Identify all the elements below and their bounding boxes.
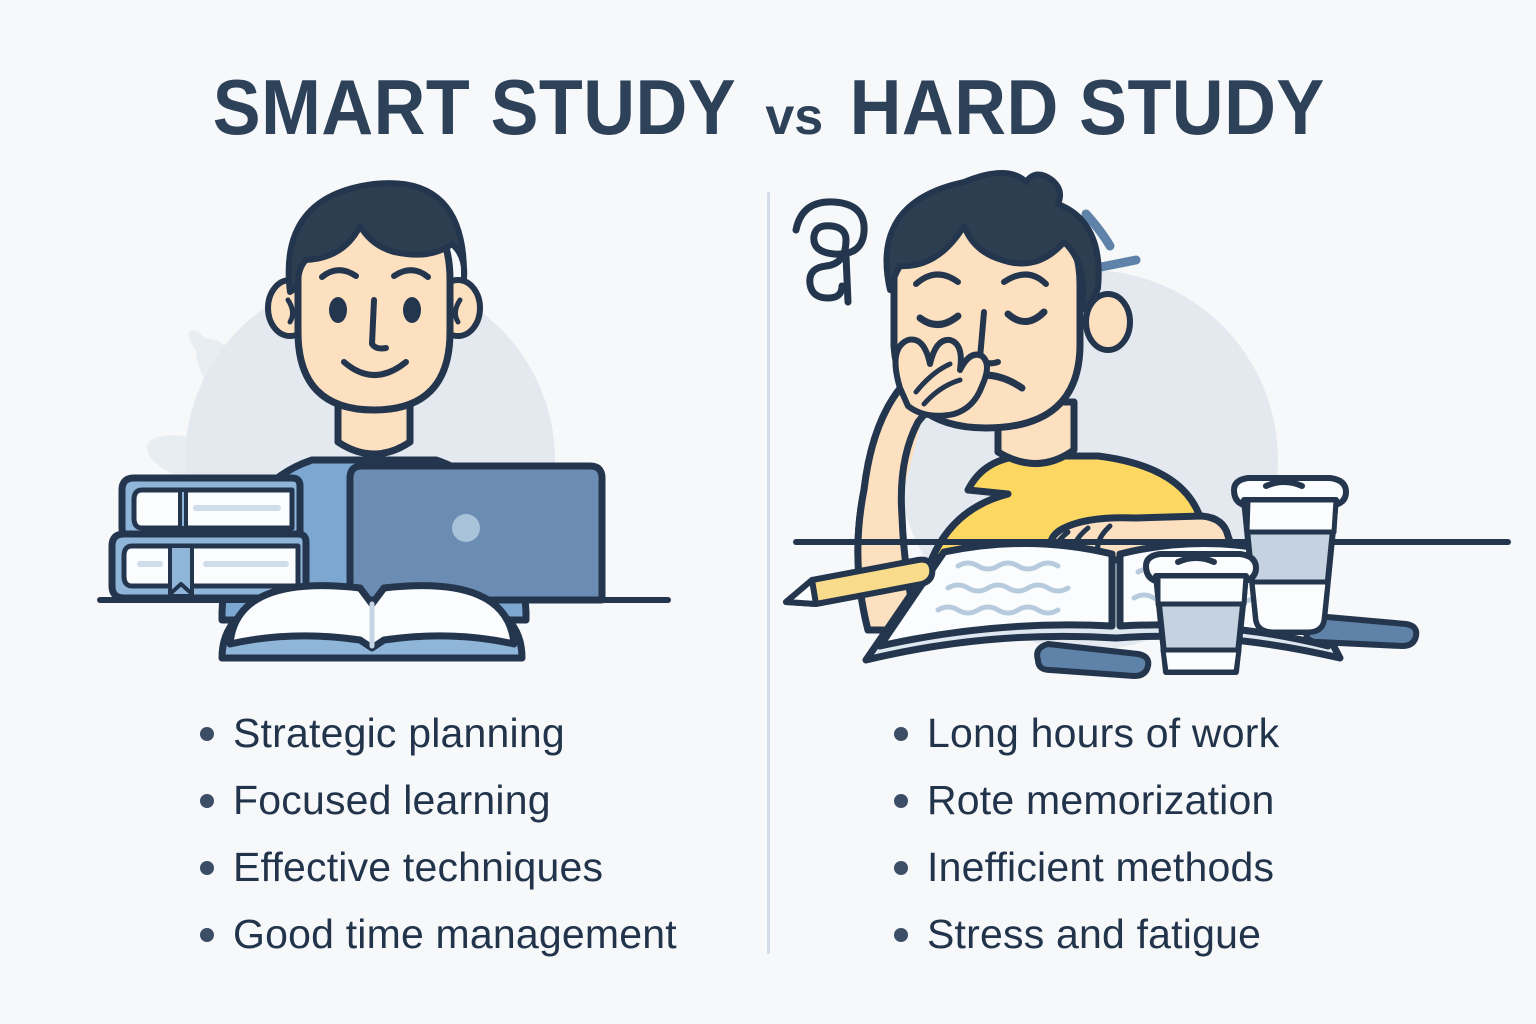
illustration-happy-student-at-laptop	[0, 160, 768, 680]
bullet-dot-icon	[200, 861, 214, 875]
left-bullet-list: Strategic planning Focused learning Effe…	[0, 700, 768, 968]
blue-pen-lower	[1037, 644, 1148, 676]
laptop-logo	[452, 514, 480, 542]
bullet-dot-icon	[894, 794, 908, 808]
right-bullet-list: Long hours of work Rote memorization Ine…	[768, 700, 1536, 968]
bullet-label: Stress and fatigue	[927, 911, 1261, 958]
right-panel-hard-study: Long hours of work Rote memorization Ine…	[768, 0, 1536, 1024]
stacked-books	[112, 478, 306, 598]
left-panel-smart-study: Strategic planning Focused learning Effe…	[0, 0, 768, 1024]
list-item: Good time management	[200, 901, 677, 968]
bullet-dot-icon	[200, 928, 214, 942]
list-item: Rote memorization	[894, 767, 1279, 834]
bullet-label: Inefficient methods	[927, 844, 1274, 891]
list-item: Stress and fatigue	[894, 901, 1279, 968]
list-item: Inefficient methods	[894, 834, 1279, 901]
bullet-dot-icon	[894, 727, 908, 741]
bullet-label: Long hours of work	[927, 710, 1279, 757]
bullet-label: Focused learning	[233, 777, 551, 824]
bullet-dot-icon	[200, 794, 214, 808]
list-item: Strategic planning	[200, 700, 677, 767]
bullet-dot-icon	[894, 928, 908, 942]
bullet-label: Good time management	[233, 911, 677, 958]
bullet-label: Rote memorization	[927, 777, 1274, 824]
infographic-root: SMART STUDYvsHARD STUDY	[0, 0, 1536, 1024]
bullet-dot-icon	[894, 861, 908, 875]
illustration-stressed-student	[768, 160, 1536, 680]
coffee-cup-small	[1146, 554, 1256, 672]
list-item: Long hours of work	[894, 700, 1279, 767]
list-item: Effective techniques	[200, 834, 677, 901]
bullet-label: Strategic planning	[233, 710, 565, 757]
bullet-label: Effective techniques	[233, 844, 603, 891]
spiral-confusion-icon	[796, 202, 864, 302]
bullet-dot-icon	[200, 727, 214, 741]
list-item: Focused learning	[200, 767, 677, 834]
